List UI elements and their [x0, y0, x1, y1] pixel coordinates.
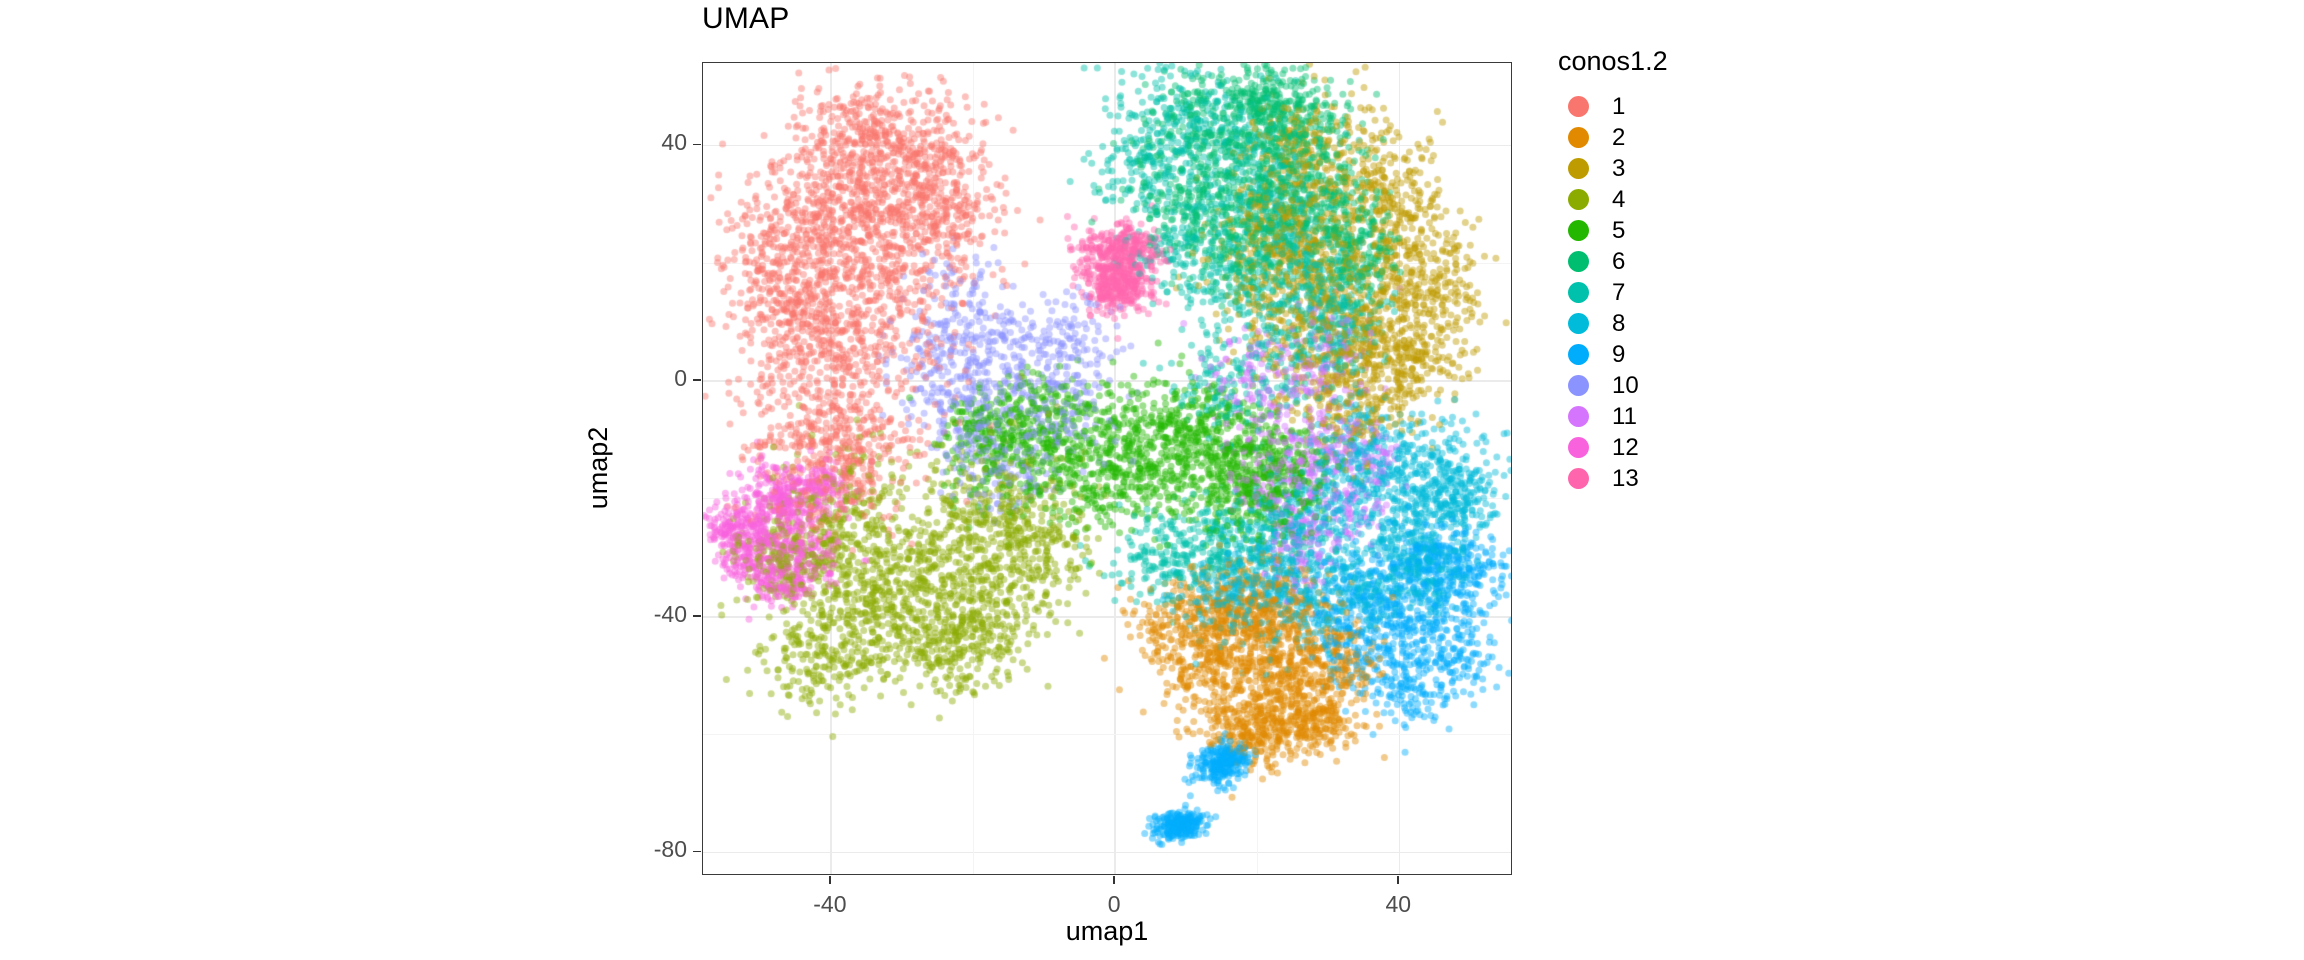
legend-item-5[interactable]: 5 — [1556, 215, 1756, 246]
plot-panel — [702, 62, 1512, 875]
legend-items: 12345678910111213 — [1556, 91, 1756, 494]
legend-dot-icon — [1568, 158, 1589, 179]
legend-dot-icon — [1568, 437, 1589, 458]
y-axis-title: umap2 — [583, 427, 614, 510]
legend-item-label: 7 — [1612, 279, 1625, 307]
legend-item-label: 3 — [1612, 155, 1625, 183]
y-tick-label: -80 — [592, 836, 687, 863]
legend-item-12[interactable]: 12 — [1556, 432, 1756, 463]
y-tick-label: 40 — [592, 129, 687, 156]
legend-dot-icon — [1568, 282, 1589, 303]
legend-dot-icon — [1568, 406, 1589, 427]
legend-dot-icon — [1568, 344, 1589, 365]
y-tick-mark — [693, 615, 701, 617]
x-tick-label: 40 — [1338, 891, 1458, 918]
y-tick-mark — [693, 144, 701, 146]
legend-item-label: 6 — [1612, 248, 1625, 276]
page-title: UMAP — [702, 2, 789, 36]
scatter-points-layer — [703, 63, 1511, 874]
legend-key-swatch — [1556, 308, 1600, 339]
legend-item-9[interactable]: 9 — [1556, 339, 1756, 370]
legend-item-4[interactable]: 4 — [1556, 184, 1756, 215]
legend-dot-icon — [1568, 468, 1589, 489]
legend-key-swatch — [1556, 246, 1600, 277]
legend-key-swatch — [1556, 215, 1600, 246]
y-tick-mark — [693, 379, 701, 381]
legend-dot-icon — [1568, 96, 1589, 117]
legend-item-label: 10 — [1612, 372, 1639, 400]
legend-dot-icon — [1568, 189, 1589, 210]
legend-dot-icon — [1568, 251, 1589, 272]
legend-key-swatch — [1556, 184, 1600, 215]
legend-key-swatch — [1556, 463, 1600, 494]
legend-key-swatch — [1556, 277, 1600, 308]
y-tick-label: 0 — [592, 365, 687, 392]
x-tick-mark — [1397, 876, 1399, 884]
x-tick-mark — [1113, 876, 1115, 884]
legend-item-label: 8 — [1612, 310, 1625, 338]
legend-item-3[interactable]: 3 — [1556, 153, 1756, 184]
legend-key-swatch — [1556, 339, 1600, 370]
legend-title: conos1.2 — [1556, 46, 1756, 77]
scatter-canvas — [703, 63, 1512, 875]
legend-item-label: 11 — [1612, 403, 1637, 431]
legend-key-swatch — [1556, 91, 1600, 122]
y-tick-label: -40 — [592, 601, 687, 628]
legend-item-10[interactable]: 10 — [1556, 370, 1756, 401]
legend-item-8[interactable]: 8 — [1556, 308, 1756, 339]
legend-dot-icon — [1568, 220, 1589, 241]
legend-item-label: 4 — [1612, 186, 1625, 214]
x-tick-mark — [829, 876, 831, 884]
legend-item-label: 1 — [1612, 93, 1625, 121]
legend-key-swatch — [1556, 122, 1600, 153]
legend-item-label: 2 — [1612, 124, 1625, 152]
legend-key-swatch — [1556, 153, 1600, 184]
legend-item-7[interactable]: 7 — [1556, 277, 1756, 308]
legend-item-label: 13 — [1612, 465, 1639, 493]
legend-dot-icon — [1568, 375, 1589, 396]
legend-key-swatch — [1556, 370, 1600, 401]
legend-dot-icon — [1568, 313, 1589, 334]
legend-key-swatch — [1556, 401, 1600, 432]
x-tick-label: -40 — [770, 891, 890, 918]
x-tick-label: 0 — [1054, 891, 1174, 918]
legend-key-swatch — [1556, 432, 1600, 463]
y-tick-mark — [693, 851, 701, 853]
legend-item-13[interactable]: 13 — [1556, 463, 1756, 494]
legend-item-label: 12 — [1612, 434, 1639, 462]
legend-item-6[interactable]: 6 — [1556, 246, 1756, 277]
legend-item-2[interactable]: 2 — [1556, 122, 1756, 153]
legend: conos1.2 12345678910111213 — [1556, 46, 1756, 494]
legend-dot-icon — [1568, 127, 1589, 148]
legend-item-label: 5 — [1612, 217, 1625, 245]
legend-item-1[interactable]: 1 — [1556, 91, 1756, 122]
legend-item-11[interactable]: 11 — [1556, 401, 1756, 432]
x-axis-title: umap1 — [702, 916, 1512, 947]
legend-item-label: 9 — [1612, 341, 1625, 369]
chart-root: UMAP 400-40-80-40040 umap1 umap2 conos1.… — [0, 0, 2304, 960]
